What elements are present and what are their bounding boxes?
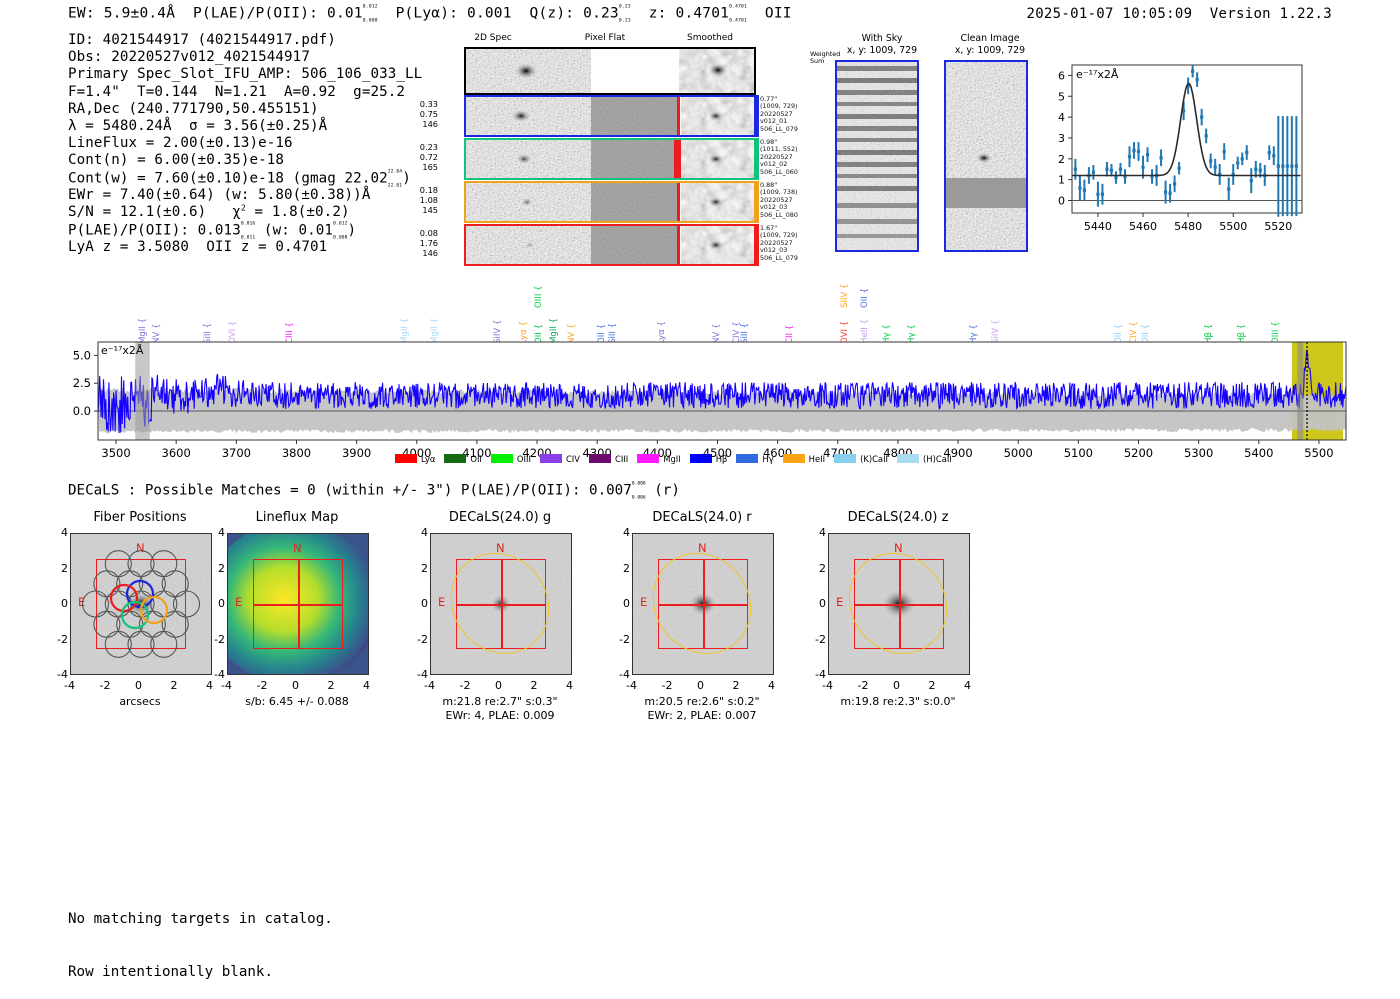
x-tick-label: 2 xyxy=(328,679,335,692)
info-radec: RA,Dec (240.771790,50.455151) xyxy=(68,101,422,118)
decals-prefix: DECaLS : Possible Matches = 0 (within +/… xyxy=(68,482,632,498)
cutout-title: DECaLS(24.0) z xyxy=(803,510,993,525)
legend-swatch xyxy=(834,454,856,463)
svg-text:1: 1 xyxy=(1058,174,1065,187)
header-qz-label: Q(z): xyxy=(530,5,575,21)
fiber-value: 0.72 xyxy=(400,152,438,162)
report-version: Version 1.22.3 xyxy=(1210,6,1332,22)
legend-swatch xyxy=(637,454,659,463)
header-z-hi: 0.4701 xyxy=(729,4,747,9)
y-tick-label: -2 xyxy=(50,633,68,646)
svg-text:5400: 5400 xyxy=(1244,446,1273,460)
spec2d-col-header-pixelflat: Pixel Flat xyxy=(550,33,660,43)
clean-image xyxy=(944,60,1028,252)
y-tick-label: 4 xyxy=(808,526,826,539)
legend-label: OIII xyxy=(517,454,531,464)
fiber-value: 146 xyxy=(400,248,438,258)
legend-label: Hγ xyxy=(762,454,773,464)
emission-line-label: SiII { xyxy=(203,292,213,344)
info-lambda-sigma: λ = 5480.24Å σ = 3.56(±0.25)Å xyxy=(68,118,422,135)
emission-line-label: CIII { xyxy=(285,292,295,344)
info-plae-weighted-text: (w: 0.01 xyxy=(255,222,333,238)
info-cont-w-close: ) xyxy=(402,170,411,186)
cutout-title: DECaLS(24.0) g xyxy=(405,510,595,525)
emission-line-label: OVI { xyxy=(228,292,238,344)
svg-text:5.0: 5.0 xyxy=(73,348,91,362)
legend-swatch xyxy=(491,454,513,463)
compass-north: N xyxy=(293,541,302,555)
legend-label: CIV xyxy=(566,454,580,464)
header-plae-poii-hi: 0.012 xyxy=(363,4,378,9)
cutout-panel-4: DECaLS(24.0) r NE-4-4-2-2002244m:20.5 re… xyxy=(632,505,812,730)
x-tick-label: 0 xyxy=(893,679,900,692)
fiber-value: 165 xyxy=(400,162,438,172)
with-sky-subtitle: x, y: 1009, 729 xyxy=(822,45,942,56)
x-tick-label: 4 xyxy=(363,679,370,692)
fiber-overlay xyxy=(70,533,212,675)
emission-line-label: MgII { xyxy=(549,292,559,344)
y-tick-label: -4 xyxy=(612,668,630,681)
svg-text:5000: 5000 xyxy=(1004,446,1033,460)
svg-text:3700: 3700 xyxy=(222,446,251,460)
info-sn-text: S/N = 12.1(±0.6) χ xyxy=(68,204,241,220)
y-tick-label: 0 xyxy=(207,597,225,610)
emission-line-label: OII { xyxy=(597,292,607,344)
svg-text:e⁻¹⁷x2Å: e⁻¹⁷x2Å xyxy=(1076,68,1119,81)
cutout-title: Lineflux Map xyxy=(202,510,392,525)
svg-text:3800: 3800 xyxy=(282,446,311,460)
fiber-row-meta: 1.67"(1009, 729)20220527v012_03506_LL_07… xyxy=(760,225,798,262)
emission-line-label: SiIV { xyxy=(840,256,850,308)
header-plya-value: 0.001 xyxy=(467,5,512,21)
fiber-meta-line: 506_LL_079 xyxy=(760,255,798,262)
cutout-caption-1: s/b: 6.45 +/- 0.088 xyxy=(202,695,392,708)
fiber-row-1 xyxy=(464,95,756,137)
emission-line-label: Hβ { xyxy=(1237,292,1247,344)
header-ew: EW: 5.9±0.4Å xyxy=(68,5,175,21)
legend-label: MgII xyxy=(663,454,680,464)
header-qz-value: 0.23 xyxy=(583,5,619,21)
x-tick-label: 4 xyxy=(768,679,775,692)
x-tick-label: 2 xyxy=(171,679,178,692)
emission-line-label: OII { xyxy=(1141,292,1151,344)
info-plae-hi: 0.016 xyxy=(241,221,255,226)
emission-line-label: Hγ { xyxy=(969,292,979,344)
compass-east: E xyxy=(235,595,242,609)
report-datetime: 2025-01-07 10:05:09 xyxy=(1026,6,1192,22)
y-tick-label: 0 xyxy=(808,597,826,610)
legend-swatch xyxy=(897,454,919,463)
emission-line-label: NV { xyxy=(567,292,577,344)
clean-image-subtitle: x, y: 1009, 729 xyxy=(930,45,1050,56)
emission-line-label: SiIV { xyxy=(493,292,503,344)
x-tick-label: 0 xyxy=(292,679,299,692)
svg-text:5500: 5500 xyxy=(1304,446,1333,460)
full-spectrum-plot: MgII {NV {SiII {OVI {CIII {MgII {MgII {S… xyxy=(60,280,1360,470)
emission-line-label: OII { xyxy=(860,256,870,308)
fiber-row-values: 0.230.72165 xyxy=(400,142,438,172)
fiber-row-meta: 0.88"(1009, 738)20220527v012_03506_LL_08… xyxy=(760,182,798,219)
y-tick-label: -2 xyxy=(207,633,225,646)
legend-item: HeII xyxy=(783,454,825,464)
info-cont-w-text: Cont(w) = 7.60(±0.10)e-18 (gmag 22.02 xyxy=(68,170,388,186)
svg-text:0: 0 xyxy=(1058,194,1065,207)
emission-line-label: Lyα { xyxy=(519,292,529,344)
fiber-value: 0.08 xyxy=(400,228,438,238)
fiber-row-values: 0.081.76146 xyxy=(400,228,438,258)
header-summary: EW: 5.9±0.4Å P(LAE)/P(OII): 0.010.0120.0… xyxy=(68,5,792,22)
info-sn-chi2: S/N = 12.1(±0.6) χ2 = 1.8(±0.2) xyxy=(68,204,422,221)
spec2d-panel: 2D Spec Pixel Flat Smoothed xyxy=(420,33,765,258)
y-tick-label: 2 xyxy=(612,562,630,575)
footer-note: No matching targets in catalog. Row inte… xyxy=(68,876,333,999)
svg-text:5520: 5520 xyxy=(1264,220,1292,233)
y-tick-label: 0 xyxy=(612,597,630,610)
spec2d-col-header-smoothed: Smoothed xyxy=(655,33,765,43)
y-tick-label: 2 xyxy=(207,562,225,575)
legend-item: OII xyxy=(444,454,482,464)
header-plae-poii-value: 0.01 xyxy=(327,5,363,21)
bottom-cutout-panels: Fiber Positions NE-4-4-2-2002244arcsecsL… xyxy=(0,505,1400,735)
emission-line-label: SiII { xyxy=(608,292,618,344)
y-tick-label: -2 xyxy=(612,633,630,646)
svg-text:5500: 5500 xyxy=(1219,220,1247,233)
info-obs: Obs: 20220527v012_4021544917 xyxy=(68,49,422,66)
footer-line-1: No matching targets in catalog. xyxy=(68,911,333,929)
fiber-row-color-tab xyxy=(754,95,759,137)
emission-line-label: OIII { xyxy=(1271,292,1281,344)
header-z-value: 0.4701 xyxy=(676,5,730,21)
decals-suffix: (r) xyxy=(654,482,680,498)
compass-east: E xyxy=(438,595,445,609)
svg-text:5460: 5460 xyxy=(1129,220,1157,233)
header-plae-poii-label: P(LAE)/P(OII): xyxy=(193,5,318,21)
fiber-value: 0.33 xyxy=(400,99,438,109)
fiber-value: 145 xyxy=(400,205,438,215)
legend-item: (H)CaII xyxy=(897,454,952,464)
svg-text:5440: 5440 xyxy=(1084,220,1112,233)
svg-text:5480: 5480 xyxy=(1174,220,1202,233)
cutout-caption-1: m:19.8 re:2.3" s:0.0" xyxy=(803,695,993,708)
cutout-panel-3: DECaLS(24.0) g NE-4-4-2-2002244m:21.8 re… xyxy=(430,505,610,730)
fiber-value: 0.75 xyxy=(400,109,438,119)
svg-text:2: 2 xyxy=(1058,153,1065,166)
footer-line-2: Row intentionally blank. xyxy=(68,964,333,982)
fiber-row-values: 0.330.75146 xyxy=(400,99,438,129)
header-plya-label: P(Lyα): xyxy=(396,5,459,21)
emission-line-label: NV { xyxy=(712,292,722,344)
emission-line-label: Hγ { xyxy=(882,292,892,344)
y-tick-label: 2 xyxy=(50,562,68,575)
y-tick-label: 4 xyxy=(410,526,428,539)
header-timestamp-version: 2025-01-07 10:05:09 Version 1.22.3 xyxy=(1026,6,1332,22)
emission-line-label: Hβ { xyxy=(1204,292,1214,344)
weighted-sum-strip xyxy=(464,47,756,95)
cutout-panel-2: Lineflux Map NE-4-4-2-2002244s/b: 6.45 +… xyxy=(227,505,407,730)
svg-text:3600: 3600 xyxy=(162,446,191,460)
info-plae-poii: P(LAE)/P(OII): 0.0130.0160.011 (w: 0.010… xyxy=(68,222,422,240)
legend-label: (K)CaII xyxy=(860,454,888,464)
emission-line-label: OII { xyxy=(1114,292,1124,344)
info-seeing: F=1.4" T=0.144 N=1.21 A=0.92 g=25.2 xyxy=(68,84,422,101)
svg-text:6: 6 xyxy=(1058,69,1065,82)
cutout-caption-2: EWr: 4, PLAE: 0.009 xyxy=(405,709,595,722)
zoomed-line-plot-svg: 012345654405460548055005520e⁻¹⁷x2Å xyxy=(1040,55,1310,253)
info-plae-w-hi: 0.012 xyxy=(333,221,347,226)
emission-line-label: SiIV { xyxy=(991,292,1001,344)
y-tick-label: 4 xyxy=(50,526,68,539)
x-tick-label: -2 xyxy=(100,679,111,692)
legend-swatch xyxy=(736,454,758,463)
legend-swatch xyxy=(444,454,466,463)
svg-text:3: 3 xyxy=(1058,132,1065,145)
svg-text:5200: 5200 xyxy=(1124,446,1153,460)
x-tick-label: -2 xyxy=(858,679,869,692)
fiber-value: 1.08 xyxy=(400,195,438,205)
legend-item: (K)CaII xyxy=(834,454,888,464)
fiber-meta-line: 506_LL_060 xyxy=(760,169,798,176)
legend-label: OII xyxy=(470,454,482,464)
fiber-row-4 xyxy=(464,224,756,266)
legend-label: HeII xyxy=(809,454,825,464)
legend-swatch xyxy=(540,454,562,463)
emission-line-label: NV { xyxy=(152,292,162,344)
decals-match-line: DECaLS : Possible Matches = 0 (within +/… xyxy=(68,482,680,499)
legend-item: Lyα xyxy=(395,454,435,464)
y-tick-label: -4 xyxy=(50,668,68,681)
info-lineflux: LineFlux = 2.00(±0.13)e-16 xyxy=(68,135,422,152)
legend-item: Hβ xyxy=(690,454,728,464)
header-qz-lo: 0.23 xyxy=(619,19,631,24)
y-tick-label: 4 xyxy=(612,526,630,539)
legend-swatch xyxy=(690,454,712,463)
emission-line-label: CIV { xyxy=(1129,292,1139,344)
x-tick-label: 2 xyxy=(929,679,936,692)
x-tick-label: 2 xyxy=(531,679,538,692)
legend-label: (H)CaII xyxy=(923,454,952,464)
legend-item: OIII xyxy=(491,454,531,464)
with-sky-title: With Sky xyxy=(822,33,942,44)
svg-text:5: 5 xyxy=(1058,90,1065,103)
fiber-value: 0.23 xyxy=(400,142,438,152)
info-plae-text: P(LAE)/P(OII): 0.013 xyxy=(68,222,241,238)
cutout-panel-5: DECaLS(24.0) z NE-4-4-2-2002244m:19.8 re… xyxy=(828,505,1008,730)
x-tick-label: -2 xyxy=(257,679,268,692)
y-tick-label: -2 xyxy=(808,633,826,646)
y-tick-label: 4 xyxy=(207,526,225,539)
cutout-caption-2: EWr: 2, PLAE: 0.007 xyxy=(607,709,797,722)
x-tick-label: 0 xyxy=(495,679,502,692)
fiber-value: 1.76 xyxy=(400,238,438,248)
header-qz-hi: 0.23 xyxy=(619,4,631,9)
header-z-species: OII xyxy=(765,5,792,21)
x-tick-label: -2 xyxy=(460,679,471,692)
emission-line-label: MgII { xyxy=(138,292,148,344)
legend-label: Hβ xyxy=(716,454,728,464)
legend-label: CIII xyxy=(615,454,628,464)
y-tick-label: -4 xyxy=(207,668,225,681)
fiber-row-values: 0.181.08145 xyxy=(400,185,438,215)
legend-label: Lyα xyxy=(421,454,435,464)
info-cont-w: Cont(w) = 7.60(±0.10)e-18 (gmag 22.0222.… xyxy=(68,170,422,188)
decals-plae-hi: 0.008 xyxy=(632,481,646,486)
svg-text:e⁻¹⁷x2Å: e⁻¹⁷x2Å xyxy=(101,344,144,357)
legend-swatch xyxy=(783,454,805,463)
detection-info-block: ID: 4021544917 (4021544917.pdf) Obs: 202… xyxy=(68,32,422,256)
header-z-label: z: xyxy=(649,5,667,21)
weighted-sum-image xyxy=(466,49,754,93)
info-id: ID: 4021544917 (4021544917.pdf) xyxy=(68,32,422,49)
fiber-row-color-tab xyxy=(754,181,759,223)
fiber-value: 0.18 xyxy=(400,185,438,195)
decals-plae-lo: 0.006 xyxy=(632,496,646,501)
svg-text:3900: 3900 xyxy=(342,446,371,460)
fiber-row-3 xyxy=(464,181,756,223)
y-tick-label: -4 xyxy=(410,668,428,681)
svg-text:2.5: 2.5 xyxy=(73,376,91,390)
emission-line-label: Hγ { xyxy=(907,292,917,344)
cutout-title: DECaLS(24.0) r xyxy=(607,510,797,525)
spectrum-legend: LyαOIIOIIICIVCIIIMgIIHβHγHeII(K)CaII(H)C… xyxy=(395,448,961,467)
y-tick-label: -4 xyxy=(808,668,826,681)
info-plae-w-lo: 0.008 xyxy=(333,235,347,240)
x-tick-label: -2 xyxy=(662,679,673,692)
crosshair-vertical xyxy=(298,559,300,650)
header-plae-poii-lo: 0.008 xyxy=(363,19,378,24)
legend-item: CIII xyxy=(589,454,628,464)
info-chi2-value: = 1.8(±0.2) xyxy=(246,204,350,220)
y-tick-label: 0 xyxy=(410,597,428,610)
svg-text:3500: 3500 xyxy=(101,446,130,460)
fiber-value: 146 xyxy=(400,119,438,129)
svg-text:4: 4 xyxy=(1058,111,1065,124)
legend-swatch xyxy=(395,454,417,463)
x-tick-label: 4 xyxy=(964,679,971,692)
x-tick-label: 2 xyxy=(733,679,740,692)
x-tick-label: 4 xyxy=(566,679,573,692)
y-tick-label: -2 xyxy=(410,633,428,646)
emission-line-label: SiII { xyxy=(740,292,750,344)
emission-line-label: CII { xyxy=(785,292,795,344)
fiber-row-meta: 0.77"(1009, 729)20220527v012_01506_LL_07… xyxy=(760,96,798,133)
fiber-row-meta: 0.98"(1011, 552)20220527v012_02506_LL_06… xyxy=(760,139,798,176)
emission-line-label: Lyα { xyxy=(657,292,667,344)
info-primary-spec: Primary Spec_Slot_IFU_AMP: 506_106_033_L… xyxy=(68,66,422,83)
info-cont-n: Cont(n) = 6.00(±0.35)e-18 xyxy=(68,152,422,169)
svg-text:5300: 5300 xyxy=(1184,446,1213,460)
legend-swatch xyxy=(589,454,611,463)
cutout-caption-1: m:20.5 re:2.6" s:0.2" xyxy=(607,695,797,708)
y-tick-label: 2 xyxy=(808,562,826,575)
clean-image-title: Clean Image xyxy=(930,33,1050,44)
cutout-caption-1: m:21.8 re:2.7" s:0.3" xyxy=(405,695,595,708)
with-sky-image xyxy=(835,60,919,252)
fiber-meta-line: 506_LL_079 xyxy=(760,126,798,133)
fiber-meta-line: 506_LL_080 xyxy=(760,212,798,219)
y-tick-label: 2 xyxy=(410,562,428,575)
y-tick-label: 0 xyxy=(50,597,68,610)
zoomed-line-plot: 012345654405460548055005520e⁻¹⁷x2Å xyxy=(1040,55,1310,230)
legend-item: Hγ xyxy=(736,454,773,464)
fiber-row-color-tab xyxy=(754,224,759,266)
svg-text:5100: 5100 xyxy=(1064,446,1093,460)
x-tick-label: 0 xyxy=(697,679,704,692)
spec2d-col-header-2dspec: 2D Spec xyxy=(438,33,548,43)
fiber-row-color-tab xyxy=(754,138,759,180)
legend-item: CIV xyxy=(540,454,580,464)
info-redshifts: LyA z = 3.5080 OII z = 0.4701 xyxy=(68,239,422,256)
header-z-lo: 0.4701 xyxy=(729,19,747,24)
info-plae-close: ) xyxy=(348,222,357,238)
fiber-row-2 xyxy=(464,138,756,180)
emission-line-label: MgII { xyxy=(400,292,410,344)
legend-item: MgII xyxy=(637,454,680,464)
svg-text:0.0: 0.0 xyxy=(73,404,91,418)
compass-east: E xyxy=(640,595,647,609)
emission-line-label: MgII { xyxy=(430,292,440,344)
x-tick-label: 0 xyxy=(135,679,142,692)
compass-east: E xyxy=(836,595,843,609)
emission-line-label: OIII { xyxy=(534,256,544,308)
